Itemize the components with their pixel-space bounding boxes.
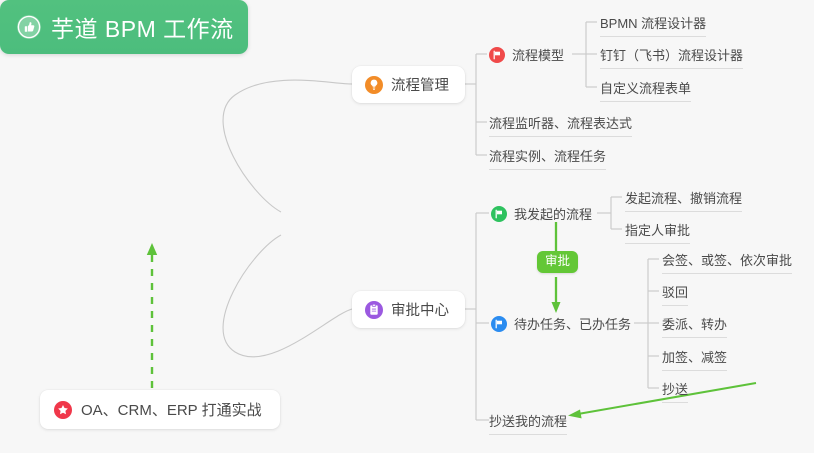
approval-tag: 审批 <box>537 251 578 273</box>
leaf-custom-form[interactable]: 自定义流程表单 <box>600 78 691 102</box>
leaf-carbon-copy[interactable]: 抄送 <box>662 379 688 403</box>
bottom-highlight-card[interactable]: OA、CRM、ERP 打通实战 <box>40 390 280 429</box>
leaf-designated-approver[interactable]: 指定人审批 <box>625 220 690 244</box>
thumbs-up-icon <box>17 15 41 39</box>
leaf-process-listener-expression[interactable]: 流程监听器、流程表达式 <box>489 113 632 137</box>
branch-node-approval-center[interactable]: 审批中心 <box>352 291 465 328</box>
leaf-process-instance-task[interactable]: 流程实例、流程任务 <box>489 146 606 170</box>
bottom-link-arrowhead <box>147 243 157 255</box>
node-label: 流程模型 <box>512 45 564 64</box>
branch-label: 流程管理 <box>391 74 449 95</box>
branch-label: 审批中心 <box>391 299 449 320</box>
leaf-bpmn-designer[interactable]: BPMN 流程设计器 <box>600 13 706 37</box>
star-icon <box>54 401 72 419</box>
leaf-cc-to-me-process[interactable]: 抄送我的流程 <box>489 411 567 435</box>
bottom-card-label: OA、CRM、ERP 打通实战 <box>81 399 262 420</box>
approval-flow-arrowhead <box>552 302 561 313</box>
mindmap-canvas: 芋道 BPM 工作流 流程管理 流程模型 BPMN 流程设计器 钉钉（飞书）流程… <box>0 0 814 453</box>
clipboard-icon <box>365 301 383 319</box>
leaf-add-remove-sign[interactable]: 加签、减签 <box>662 347 727 371</box>
lightbulb-icon <box>365 76 383 94</box>
root-label: 芋道 BPM 工作流 <box>51 10 234 44</box>
flag-icon <box>491 316 507 332</box>
flag-icon <box>491 206 507 222</box>
leaf-dingtalk-designer[interactable]: 钉钉（飞书）流程设计器 <box>600 45 743 69</box>
flag-icon <box>489 47 505 63</box>
cc-flow-arrowhead <box>568 410 582 419</box>
leaf-countersign-options[interactable]: 会签、或签、依次审批 <box>662 250 792 274</box>
node-label: 待办任务、已办任务 <box>514 314 631 333</box>
leaf-reject[interactable]: 驳回 <box>662 282 688 306</box>
branch-node-process-management[interactable]: 流程管理 <box>352 66 465 103</box>
node-my-initiated-process[interactable]: 我发起的流程 <box>491 204 592 223</box>
node-label: 我发起的流程 <box>514 204 592 223</box>
leaf-delegate-transfer[interactable]: 委派、转办 <box>662 314 727 338</box>
leaf-start-cancel-process[interactable]: 发起流程、撤销流程 <box>625 188 742 212</box>
node-todo-done-tasks[interactable]: 待办任务、已办任务 <box>491 314 631 333</box>
node-process-model[interactable]: 流程模型 <box>489 45 564 64</box>
root-node[interactable]: 芋道 BPM 工作流 <box>0 0 248 54</box>
